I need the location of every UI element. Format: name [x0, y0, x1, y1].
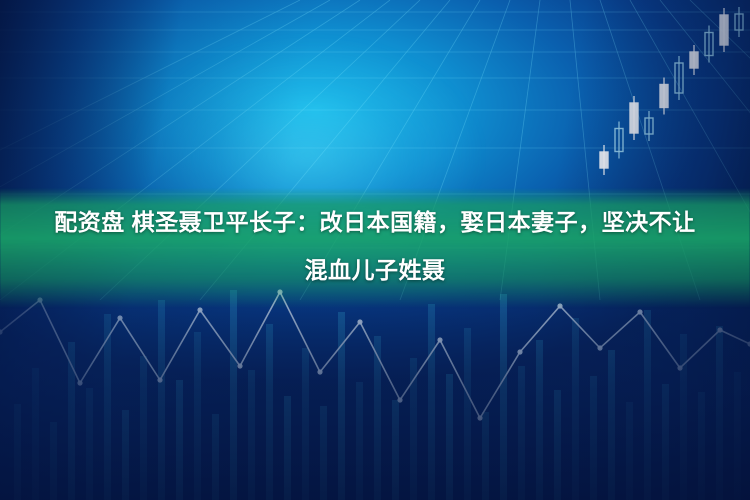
caption-text: 配资盘 棋圣聂卫平长子：改日本国籍，娶日本妻子，坚决不让 混血儿子姓聂	[0, 198, 750, 294]
caption-line-1: 配资盘 棋圣聂卫平长子：改日本国籍，娶日本妻子，坚决不让	[12, 198, 738, 246]
caption-line-2: 混血儿子姓聂	[12, 246, 738, 294]
stock-background-image: 配资盘 棋圣聂卫平长子：改日本国籍，娶日本妻子，坚决不让 混血儿子姓聂	[0, 0, 750, 500]
